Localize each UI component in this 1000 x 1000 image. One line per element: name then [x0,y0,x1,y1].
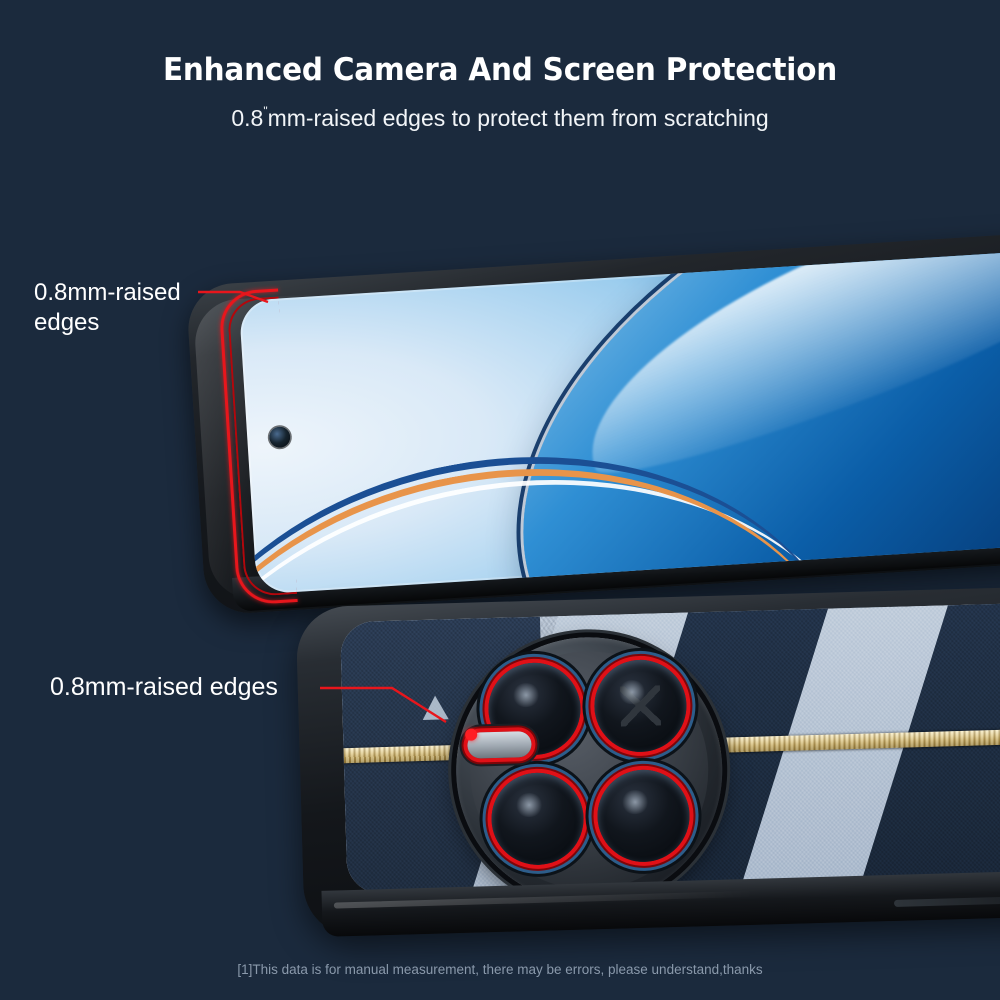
page-title: Enhanced Camera And Screen Protection [25,52,975,88]
phone-screen [239,248,1000,595]
footnote-disclaimer: [1]This data is for manual measurement, … [0,962,1000,977]
panel-triangle-accent [422,695,449,720]
subtitle-rest: mm-raised edges to protect them from scr… [268,105,769,131]
subtitle-footnote-marker: " [263,104,267,118]
phone-front-view [186,230,1000,616]
callout-label-screen-edge: 0.8mm-raised edges [34,278,181,338]
phone-back-view [296,585,1000,938]
subtitle-value: 0.8 [231,105,263,131]
page-subtitle: 0.8"mm-raised edges to protect them from… [0,105,1000,132]
product-marketing-image: Enhanced Camera And Screen Protection 0.… [0,0,1000,1000]
callout-label-camera-edge: 0.8mm-raised edges [50,672,278,704]
phone-back-panel [340,601,1000,895]
